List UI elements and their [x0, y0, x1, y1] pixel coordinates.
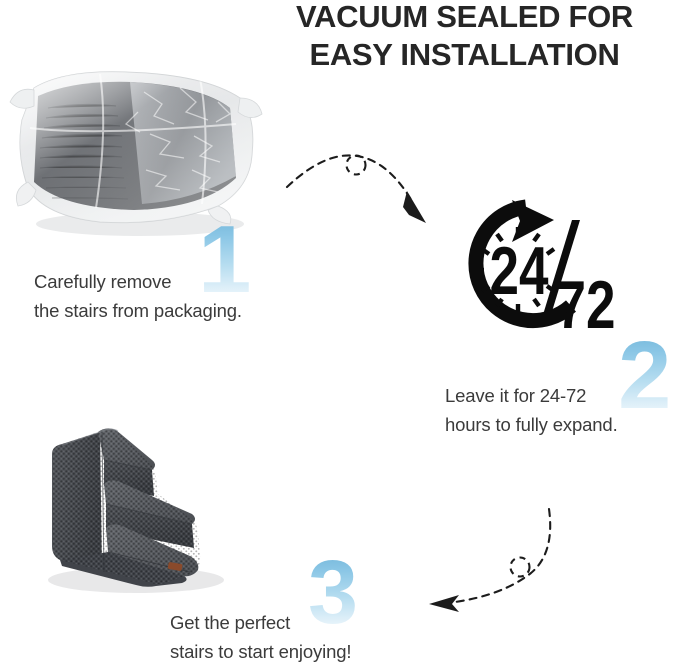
dashed-arrow-step1-to-step2: [285, 145, 460, 230]
clock-24-72-icon: 24 72: [438, 198, 628, 338]
infographic-canvas: VACUUM SEALED FOR EASY INSTALLATION: [0, 0, 679, 663]
step-caption-1: Carefully remove the stairs from packagi…: [34, 267, 242, 325]
step-caption-3: Get the perfect stairs to start enjoying…: [170, 608, 351, 663]
pet-stairs-photo: [40, 420, 270, 600]
clock-numerator: 24: [489, 233, 548, 309]
page-title: VACUUM SEALED FOR EASY INSTALLATION: [250, 0, 679, 74]
clock-denominator: 72: [557, 267, 616, 343]
dashed-arrow-step2-to-step3: [425, 505, 590, 620]
step-caption-2: Leave it for 24-72 hours to fully expand…: [445, 381, 618, 439]
step-number-2: 2: [618, 328, 671, 424]
